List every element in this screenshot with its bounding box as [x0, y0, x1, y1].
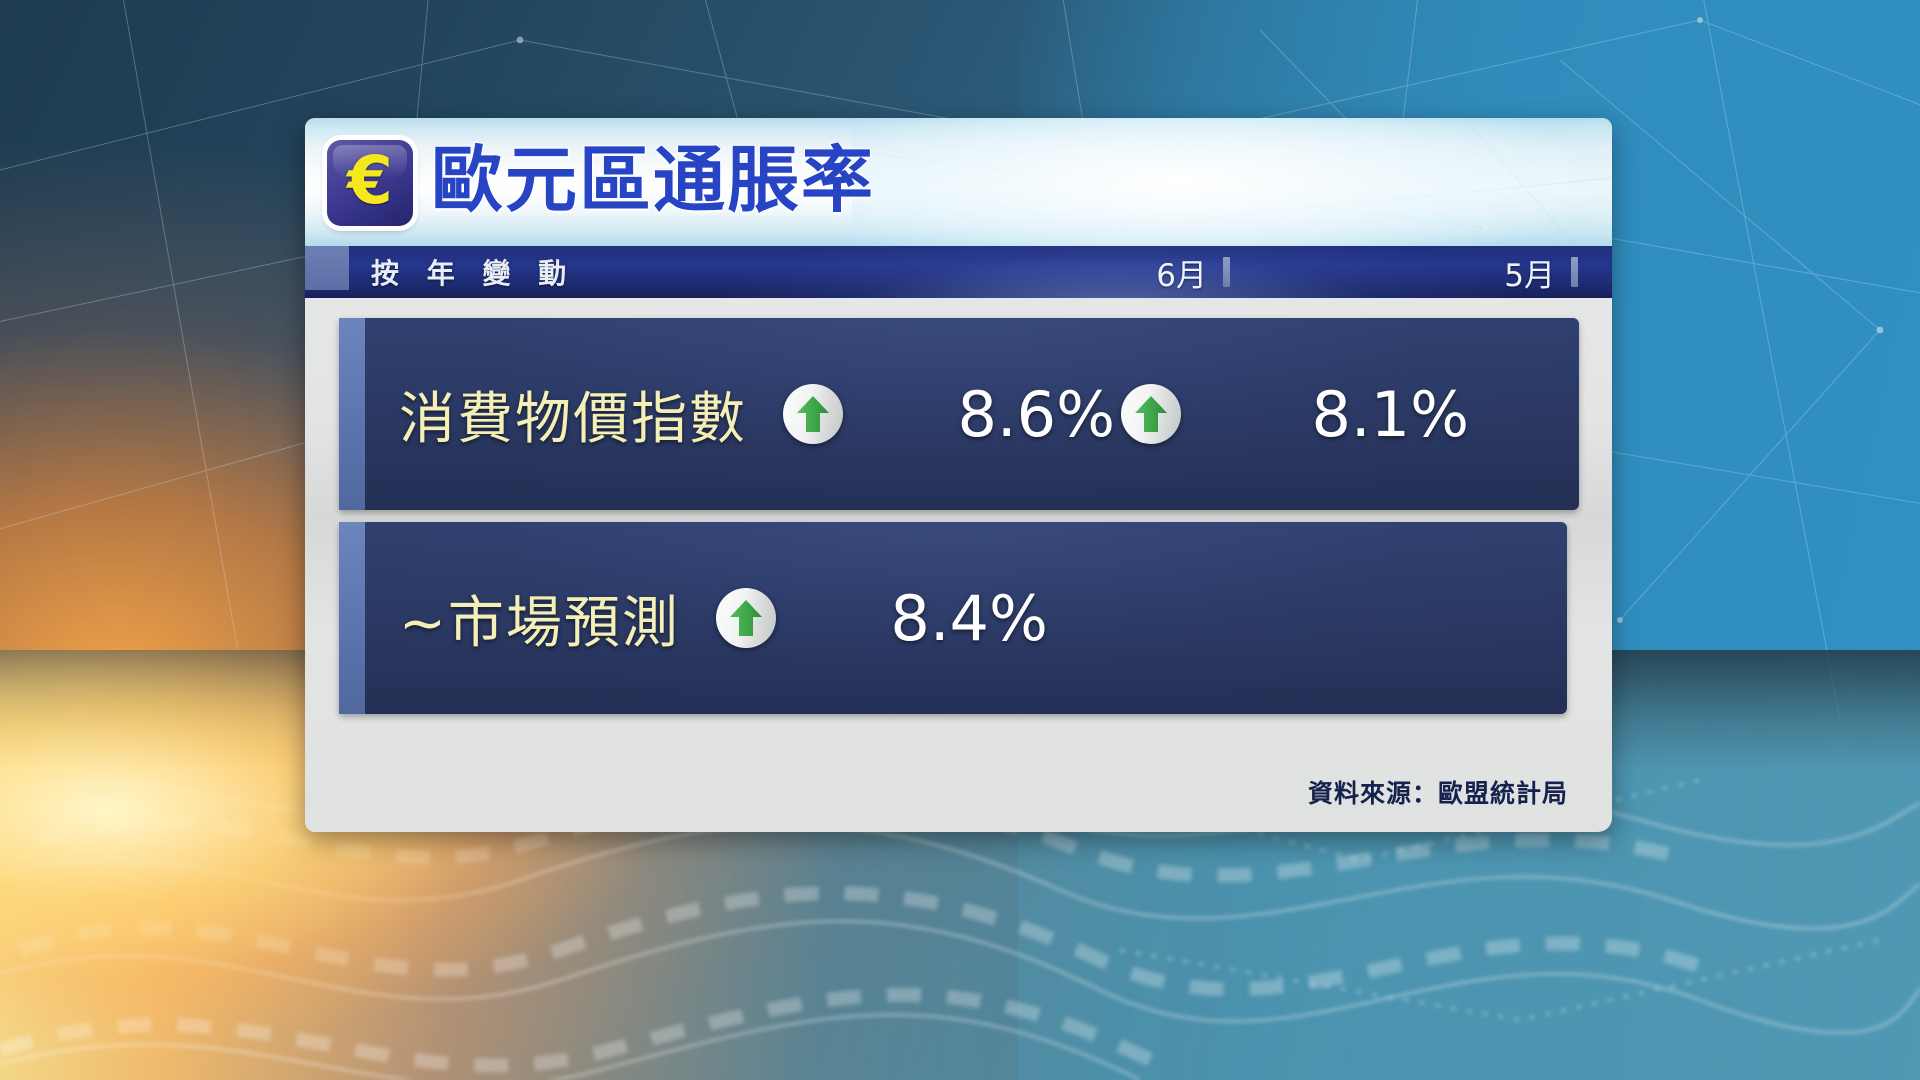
header-left-label: 按 年 變 動: [371, 252, 575, 292]
column-header-previous: 5月: [1230, 250, 1612, 295]
header-accent-block: [305, 246, 349, 290]
column-header-current: 6月: [900, 250, 1230, 295]
column-tick-icon: [1571, 257, 1578, 287]
column-header-previous-label: 5月: [1504, 250, 1555, 295]
source-note: 資料來源：歐盟統計局: [1308, 774, 1568, 810]
arrow-up-icon: [1121, 384, 1181, 444]
euro-currency-icon: €: [327, 140, 413, 226]
row-cell-current: 8.4%: [716, 582, 1048, 655]
row-label: 消費物價指數: [399, 374, 747, 455]
column-header-current-label: 6月: [1156, 250, 1207, 295]
column-tick-icon: [1223, 257, 1230, 287]
arrow-up-icon: [783, 384, 843, 444]
card-body: 消費物價指數: [305, 298, 1612, 832]
row-value-current: 8.6%: [865, 378, 1115, 451]
arrow-up-icon: [716, 588, 776, 648]
row-label: ~市場預測: [399, 578, 680, 659]
row-cell-previous: 8.1%: [1121, 378, 1485, 451]
page-title: 歐元區通脹率: [431, 144, 875, 216]
header-columns: 6月 5月: [900, 250, 1612, 295]
row-value-current: 8.4%: [798, 582, 1048, 655]
row-value-previous: 8.1%: [1203, 378, 1485, 451]
card-title-bar: € 歐元區通脹率: [305, 118, 1612, 246]
row-accent-bar: [339, 318, 365, 510]
row-accent-bar: [339, 522, 365, 714]
table-row: ~市場預測 8.4%: [339, 522, 1567, 714]
column-header-bar: 按 年 變 動 6月 5月: [305, 246, 1612, 298]
euro-symbol-glyph: €: [347, 148, 393, 214]
table-row: 消費物價指數: [339, 318, 1579, 510]
info-card: € 歐元區通脹率 按 年 變 動 6月 5月: [305, 118, 1612, 832]
row-cell-current: 8.6%: [783, 378, 1115, 451]
broadcast-graphic-stage: € 歐元區通脹率 按 年 變 動 6月 5月: [0, 0, 1920, 1080]
